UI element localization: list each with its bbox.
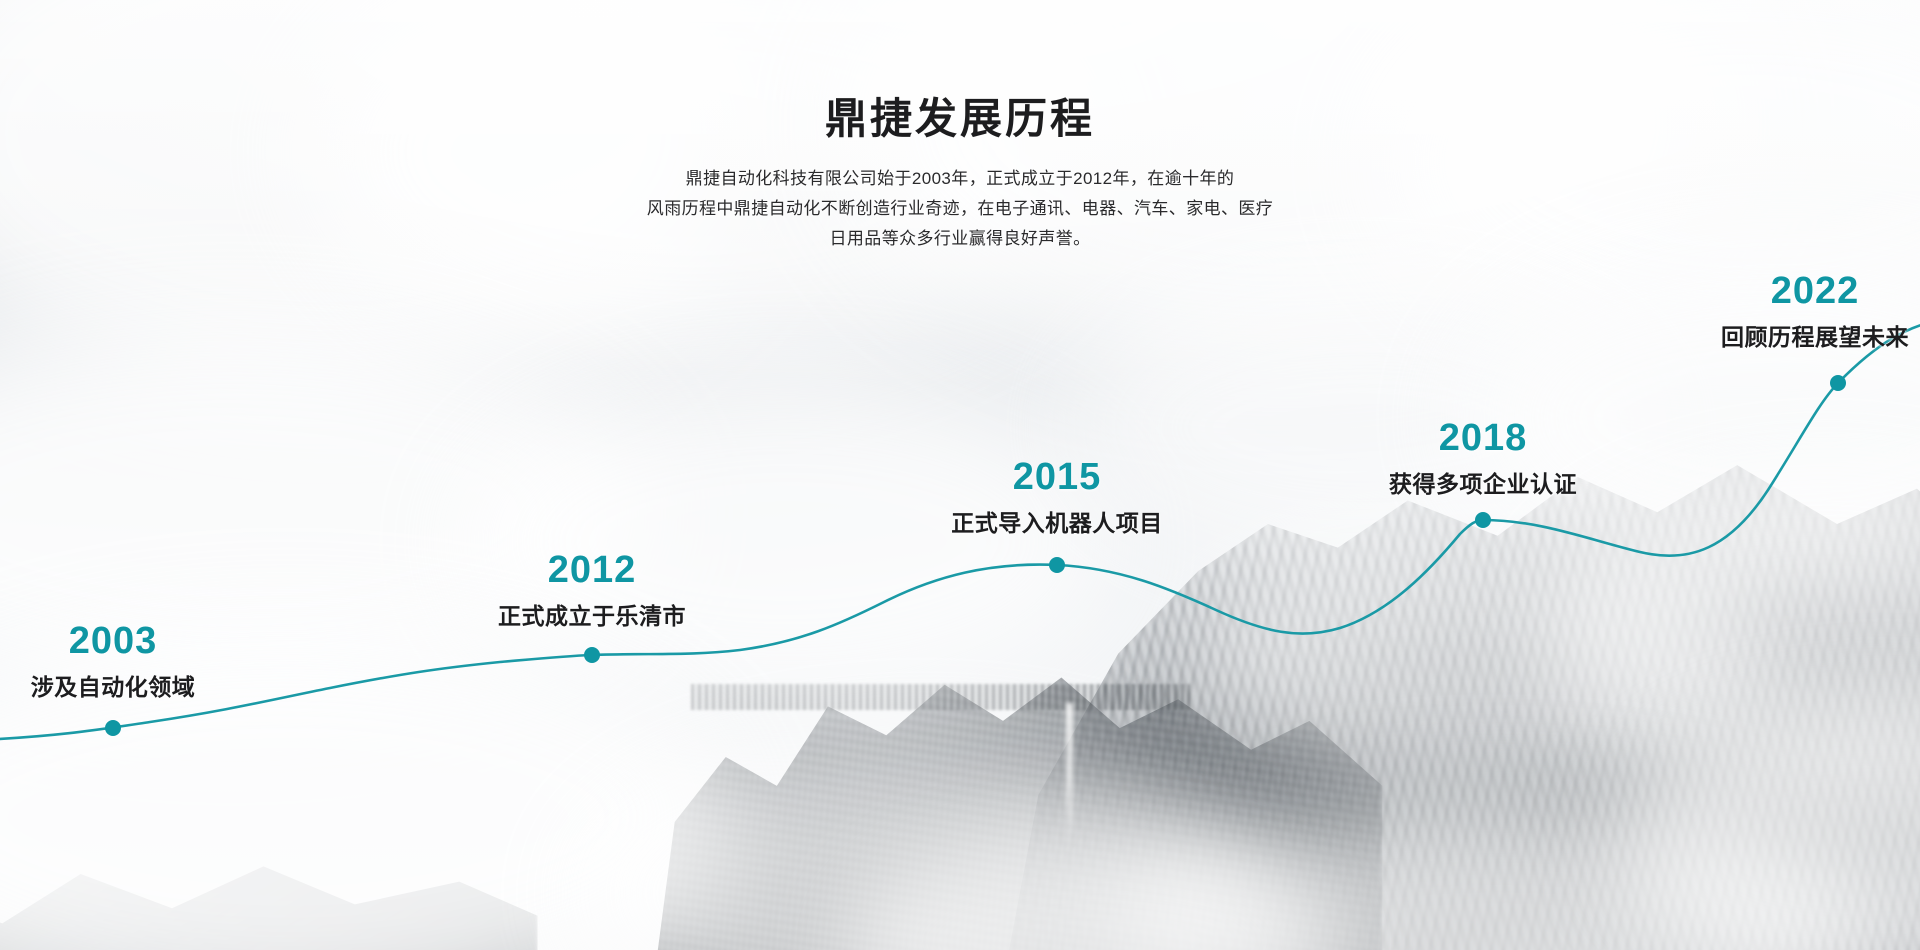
timeline-node-dot[interactable] [584,647,600,663]
timeline-milestone-2003[interactable]: 2003涉及自动化领域 [31,622,196,702]
timeline-node-dot[interactable] [1049,557,1065,573]
milestone-year: 2018 [1389,419,1577,459]
timeline-infographic: 鼎捷发展历程 鼎捷自动化科技有限公司始于2003年，正式成立于2012年，在逾十… [0,0,1920,950]
milestone-text: 获得多项企业认证 [1389,465,1577,499]
timeline-node-dot[interactable] [1475,512,1491,528]
description-line-2: 风雨历程中鼎捷自动化不断创造行业奇迹，在电子通讯、电器、汽车、家电、医疗 [0,194,1920,224]
timeline-milestone-2018[interactable]: 2018获得多项企业认证 [1389,419,1577,499]
milestone-text: 正式导入机器人项目 [951,504,1163,538]
timeline-milestone-2015[interactable]: 2015正式导入机器人项目 [951,458,1163,538]
milestone-year: 2015 [951,458,1163,498]
timeline-milestone-2012[interactable]: 2012正式成立于乐清市 [498,551,686,631]
description-line-3: 日用品等众多行业赢得良好声誉。 [0,224,1920,254]
timeline-node-dot[interactable] [105,720,121,736]
milestone-text: 正式成立于乐清市 [498,597,686,631]
milestone-year: 2012 [498,551,686,591]
milestone-text: 回顾历程展望未来 [1721,318,1909,352]
header: 鼎捷发展历程 鼎捷自动化科技有限公司始于2003年，正式成立于2012年，在逾十… [0,96,1920,254]
milestone-text: 涉及自动化领域 [31,668,196,702]
page-title: 鼎捷发展历程 [0,96,1920,142]
description-line-1: 鼎捷自动化科技有限公司始于2003年，正式成立于2012年，在逾十年的 [0,164,1920,194]
milestone-year: 2003 [31,622,196,662]
timeline-milestone-2022[interactable]: 2022回顾历程展望未来 [1721,272,1909,352]
page-description: 鼎捷自动化科技有限公司始于2003年，正式成立于2012年，在逾十年的 风雨历程… [0,164,1920,254]
timeline-node-dot[interactable] [1830,375,1846,391]
milestone-year: 2022 [1721,272,1909,312]
